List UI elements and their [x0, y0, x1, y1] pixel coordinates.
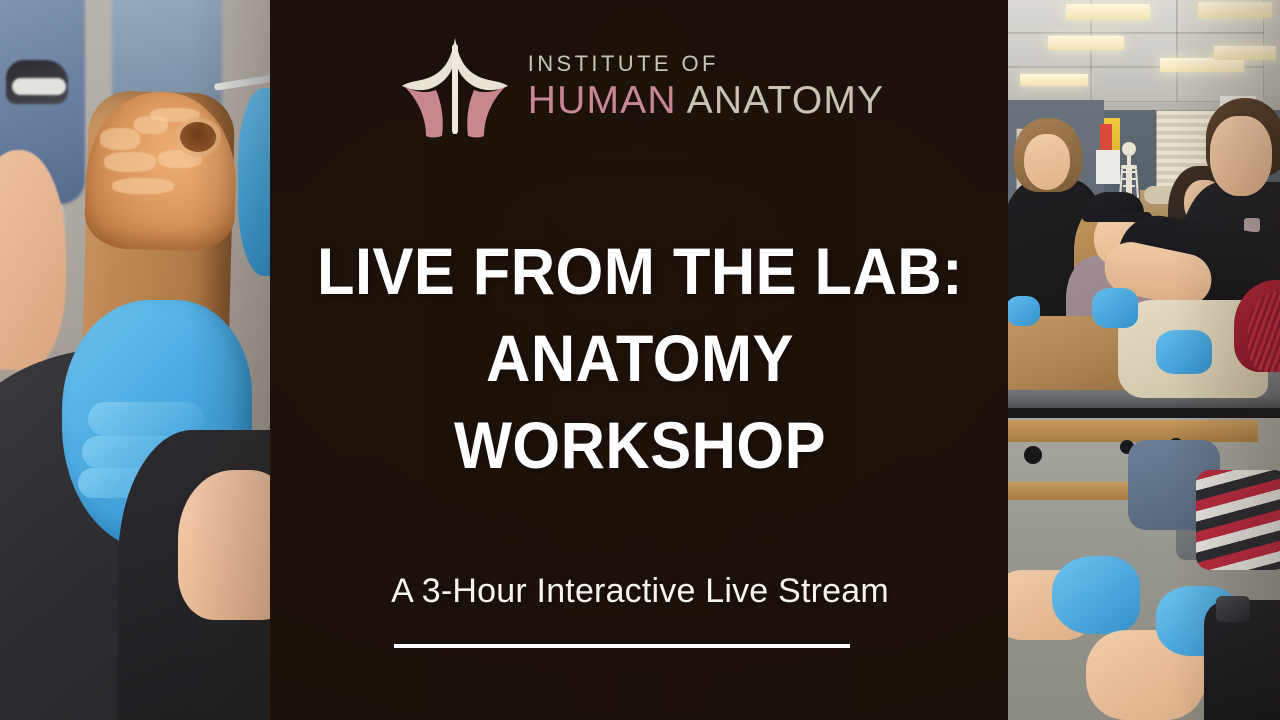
title-line-1: LIVE FROM THE LAB:	[45, 228, 1235, 315]
brand-word-human: HUMAN	[528, 79, 677, 122]
banner-content: INSTITUTE OF HUMAN ANATOMY LIVE FROM THE…	[0, 0, 1280, 720]
brand-wordmark: INSTITUTE OF HUMAN ANATOMY	[528, 53, 885, 120]
page-title: LIVE FROM THE LAB: ANATOMY WORKSHOP	[45, 228, 1235, 489]
brand-lockup: INSTITUTE OF HUMAN ANATOMY	[0, 30, 1280, 142]
brand-line-human-anatomy: HUMAN ANATOMY	[528, 81, 885, 120]
subtitle: A 3-Hour Interactive Live Stream	[0, 572, 1280, 611]
title-line-3: WORKSHOP	[45, 402, 1235, 489]
divider-rule	[394, 644, 850, 648]
brand-word-anatomy: ANATOMY	[677, 79, 885, 122]
promo-banner: INSTITUTE OF HUMAN ANATOMY LIVE FROM THE…	[0, 0, 1280, 720]
brand-line-institute-of: INSTITUTE OF	[528, 53, 885, 75]
institute-of-human-anatomy-logo-icon	[396, 30, 514, 142]
title-line-2: ANATOMY	[45, 315, 1235, 402]
